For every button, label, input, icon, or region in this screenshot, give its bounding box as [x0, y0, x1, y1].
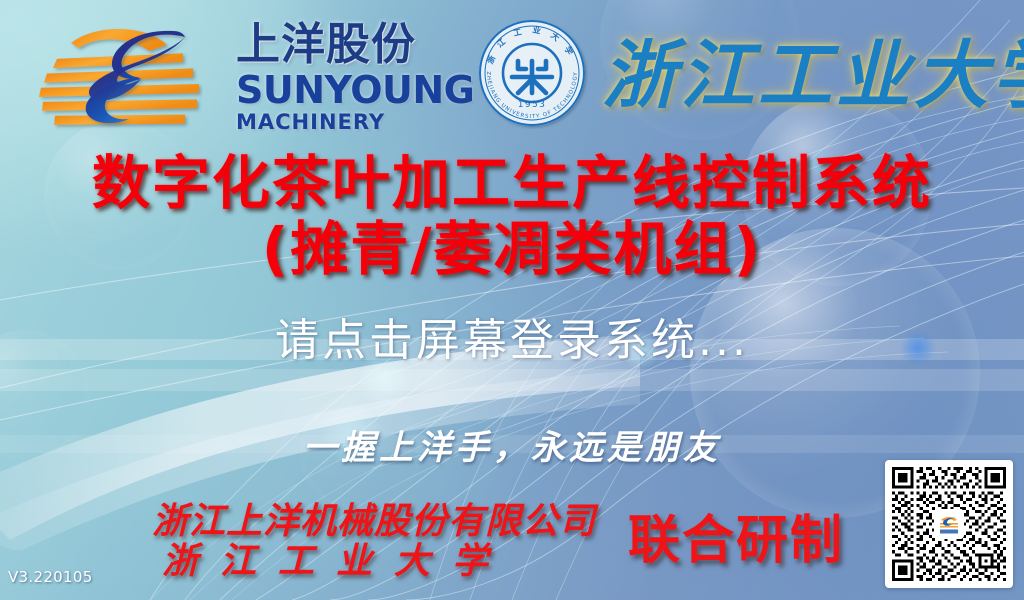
version-label: V3.220105 — [8, 568, 93, 586]
university-name-cn: 浙江工业大学 — [602, 28, 1020, 124]
brand-name-en-sub: MACHINERY — [236, 111, 476, 134]
footer-joint-development: 联合研制 — [628, 512, 844, 570]
footer-company-name: 浙江上洋机械股份有限公司 — [152, 500, 672, 542]
company-slogan: 一握上洋手，永远是朋友 — [0, 424, 1024, 472]
splash-screen[interactable]: 上洋股份 SUNYOUNG MACHINERY 浙江工业大学 — [0, 0, 1024, 600]
qr-code[interactable] — [885, 460, 1013, 588]
brand-name-en: SUNYOUNG — [236, 70, 476, 110]
login-hint-text[interactable]: 请点击屏幕登录系统... — [0, 312, 1024, 370]
sunyoung-wordmark: 上洋股份 SUNYOUNG MACHINERY — [236, 22, 476, 140]
footer-university-name: 浙江工业大学 — [162, 540, 682, 582]
sunyoung-mini-logo-icon — [934, 509, 964, 539]
page-title-line1: 数字化茶叶加工生产线控制系统 — [0, 152, 1024, 214]
sunyoung-dome-s-logo-icon — [33, 17, 203, 137]
brand-name-cn: 上洋股份 — [236, 22, 476, 68]
page-title-line2: (摊青/萎凋类机组) — [0, 218, 1024, 280]
zjut-seal-icon: 浙江工业大学 ZHEJIANG UNIVERSITY OF TECHNOLOGY… — [476, 17, 588, 129]
svg-text:1953: 1953 — [518, 100, 547, 110]
